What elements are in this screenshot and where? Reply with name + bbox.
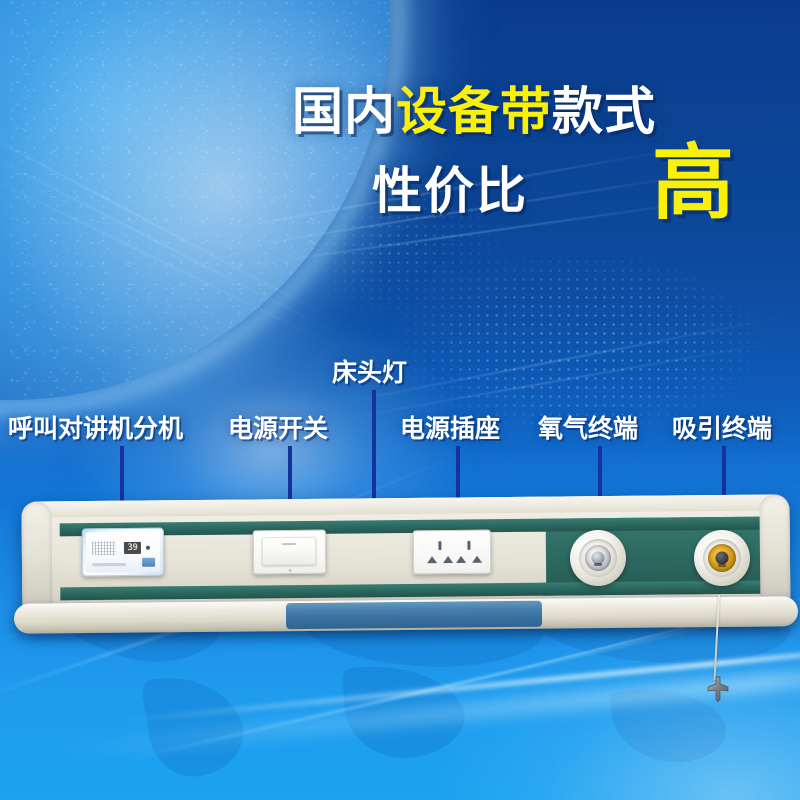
switch-marking	[282, 543, 296, 545]
oxygen-port[interactable]	[585, 545, 611, 571]
intercom-vent-slot	[92, 563, 126, 566]
suction-port[interactable]	[708, 544, 736, 572]
panel-top-lip	[21, 494, 789, 517]
oxygen-marking	[594, 563, 602, 566]
suction-terminal[interactable]	[694, 530, 751, 587]
power-switch[interactable]	[253, 530, 326, 575]
nurse-call-intercom[interactable]: 39	[82, 528, 164, 577]
intercom-display: 39	[124, 542, 141, 554]
socket-pin-top	[438, 541, 441, 550]
panel-lower-rail	[14, 596, 798, 634]
intercom-faceplate: 39	[86, 532, 160, 573]
socket-pin-right	[472, 556, 482, 563]
indicator-led-icon	[146, 546, 150, 550]
cross-plug-icon	[705, 676, 731, 702]
rail-blue-segment	[286, 601, 542, 629]
socket-plate	[419, 535, 485, 570]
switch-rocker[interactable]	[262, 537, 316, 566]
suction-core-icon	[715, 551, 728, 564]
socket-pin-top	[467, 541, 470, 550]
power-socket[interactable]	[413, 530, 491, 575]
suction-marking	[718, 564, 726, 567]
socket-pin-right	[443, 556, 453, 563]
socket-pin-left	[427, 556, 437, 563]
oxygen-terminal[interactable]	[570, 530, 627, 587]
speaker-grille-icon	[92, 541, 116, 555]
switch-screw-icon	[288, 569, 291, 572]
socket-pin-left	[456, 556, 466, 563]
intercom-call-button[interactable]	[142, 558, 155, 567]
poster-canvas: 国内设备带款式 性价比 高 呼叫对讲机分机 电源开关 床头灯 电源插座 氧气终端…	[0, 0, 800, 800]
socket-outlet-1[interactable]	[426, 541, 454, 565]
medical-bed-head-unit: 39	[0, 0, 800, 800]
socket-outlet-2[interactable]	[455, 541, 483, 565]
